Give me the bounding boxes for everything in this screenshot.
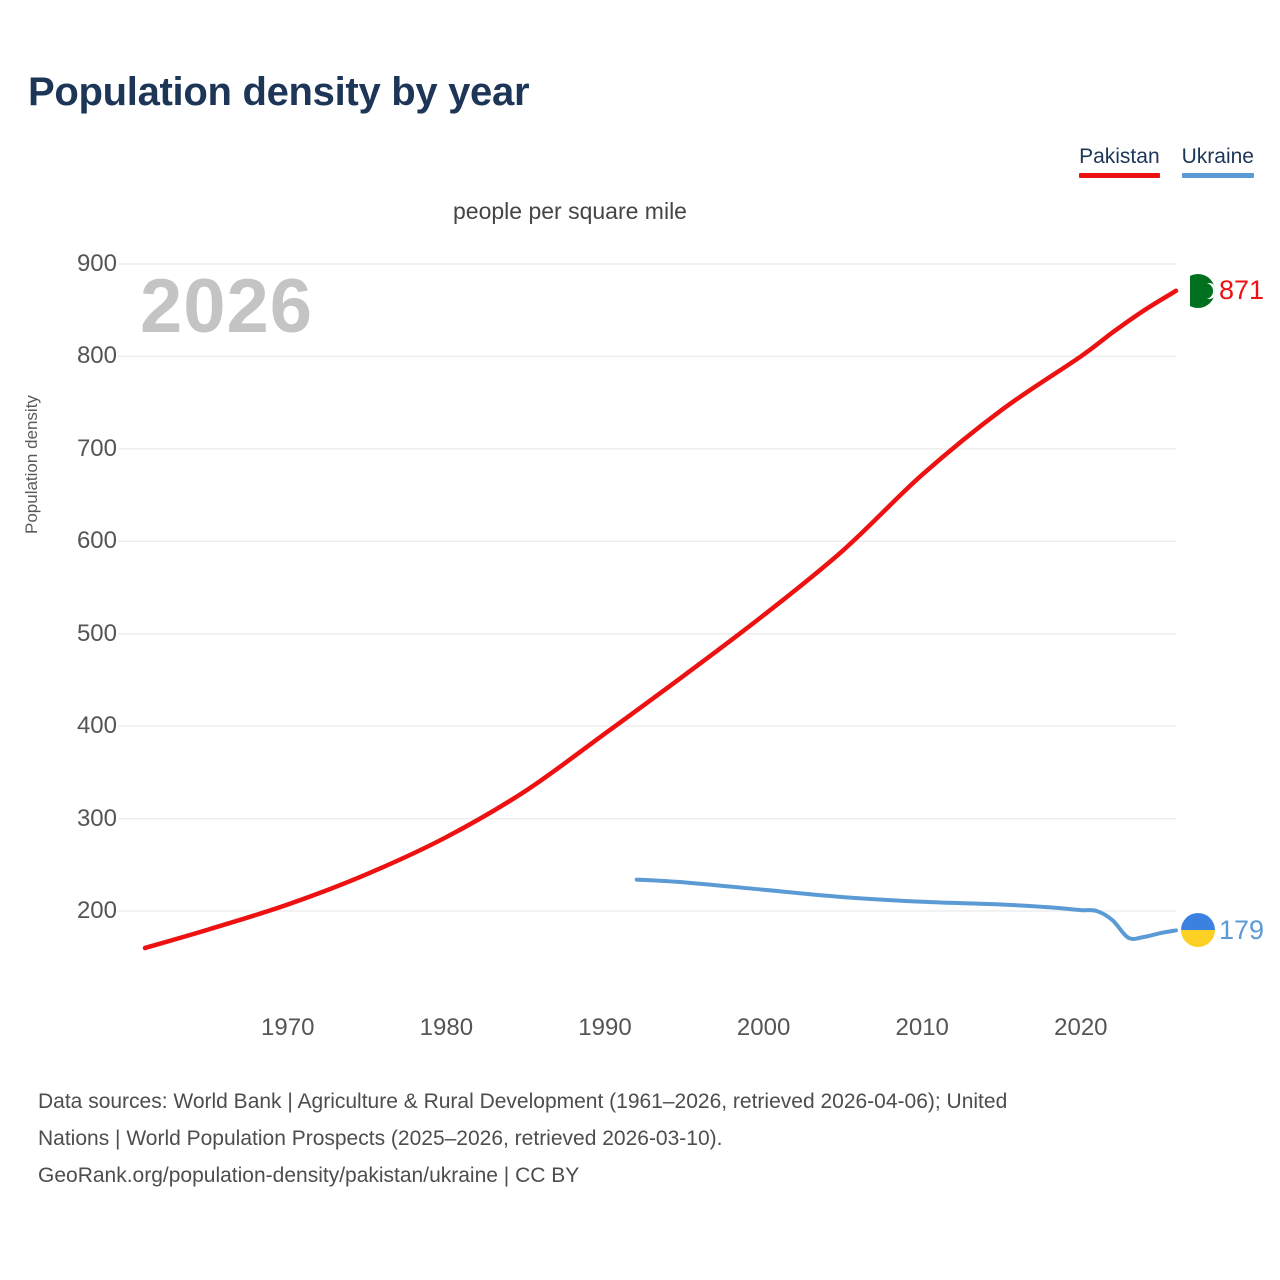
ukraine-endpoint-value: 179 <box>1219 915 1264 946</box>
x-axis-tick: 2010 <box>896 1014 949 1042</box>
ukraine-flag-icon <box>1181 913 1215 947</box>
chart-svg <box>0 0 1280 1060</box>
x-axis-tick: 1990 <box>578 1014 631 1042</box>
x-axis-tick: 2020 <box>1054 1014 1107 1042</box>
ukraine-endpoint[interactable]: 179 <box>1181 913 1264 947</box>
series-line-ukraine[interactable] <box>637 880 1176 939</box>
watermark-year: 2026 <box>140 268 313 346</box>
y-axis-tick: 500 <box>0 620 117 648</box>
x-axis-tick: 1980 <box>420 1014 473 1042</box>
footer-line-2: Nations | World Population Prospects (20… <box>38 1120 1253 1157</box>
x-axis-tick: 1970 <box>261 1014 314 1042</box>
y-axis-tick: 200 <box>0 897 117 925</box>
y-axis-tick: 900 <box>0 250 117 278</box>
chart-plot-area: 2026 Population density 2003004005006007… <box>0 0 1280 1060</box>
footer-line-1: Data sources: World Bank | Agriculture &… <box>38 1083 1253 1120</box>
y-axis-tick: 700 <box>0 435 117 463</box>
x-axis-tick: 2000 <box>737 1014 790 1042</box>
y-axis-tick: 800 <box>0 342 117 370</box>
footer-attribution: Data sources: World Bank | Agriculture &… <box>38 1083 1253 1194</box>
pakistan-endpoint-value: 871 <box>1219 275 1264 306</box>
y-axis-tick: 600 <box>0 527 117 555</box>
y-axis-tick: 400 <box>0 712 117 740</box>
pakistan-flag-icon <box>1181 274 1215 308</box>
series-line-pakistan[interactable] <box>145 291 1176 948</box>
footer-line-3: GeoRank.org/population-density/pakistan/… <box>38 1157 1253 1194</box>
y-axis-tick: 300 <box>0 805 117 833</box>
chart-page: Population density by year Pakistan Ukra… <box>0 0 1280 1280</box>
pakistan-endpoint[interactable]: 871 <box>1181 274 1264 308</box>
